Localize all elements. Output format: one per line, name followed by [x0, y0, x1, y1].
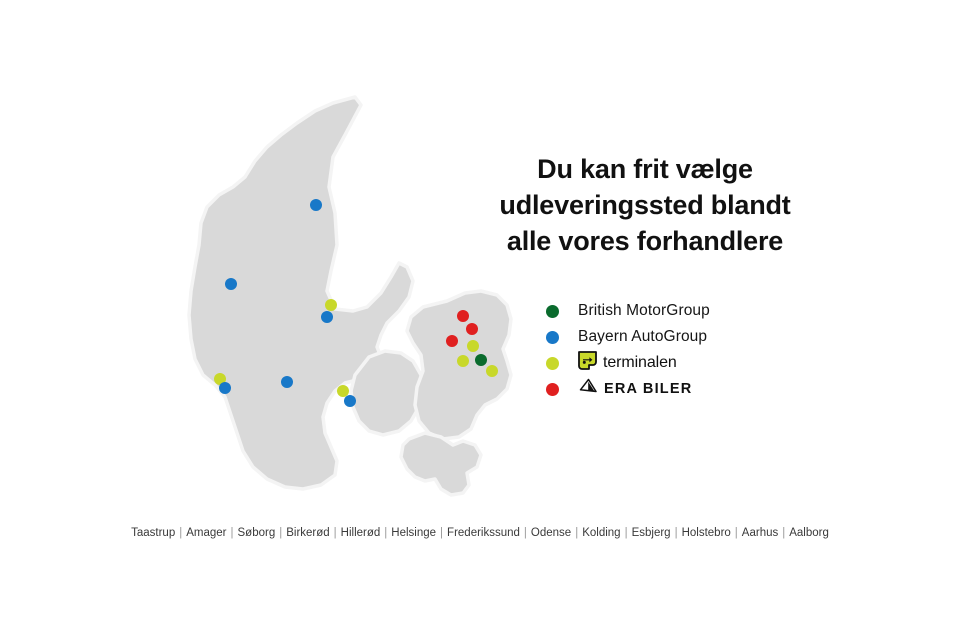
legend-item-era-biler[interactable]: ERA BILER: [546, 376, 846, 402]
map-marker-terminalen[interactable]: [457, 355, 469, 367]
map-marker-bayern[interactable]: [225, 278, 237, 290]
legend-label-british: British MotorGroup: [578, 302, 710, 320]
headline-line-1: Du kan frit vælge: [470, 152, 820, 188]
city-name: Esbjerg: [631, 527, 672, 539]
legend-item-terminalen[interactable]: terminalen: [546, 350, 846, 376]
city-name: Søborg: [237, 527, 277, 539]
era-biler-logo-icon: [578, 378, 598, 400]
city-name: Odense: [530, 527, 572, 539]
city-name: Aalborg: [788, 527, 830, 539]
city-name: Hillerød: [340, 527, 382, 539]
city-separator: |: [732, 527, 741, 539]
city-separator: |: [437, 527, 446, 539]
headline-line-2: udleveringssted blandt: [470, 188, 820, 224]
map-landmasses: [189, 97, 511, 495]
city-separator: |: [779, 527, 788, 539]
map-marker-era[interactable]: [466, 323, 478, 335]
city-name: Kolding: [581, 527, 621, 539]
city-name: Helsinge: [390, 527, 437, 539]
map-marker-terminalen[interactable]: [486, 365, 498, 377]
legend-item-bayern-autogroup[interactable]: Bayern AutoGroup: [546, 324, 846, 350]
city-separator: |: [276, 527, 285, 539]
city-separator: |: [228, 527, 237, 539]
map-marker-bayern[interactable]: [219, 382, 231, 394]
map-marker-bayern[interactable]: [310, 199, 322, 211]
legend-dot-era: [546, 383, 559, 396]
era-biler-brand: ERA BILER: [578, 378, 692, 400]
map-marker-british[interactable]: [475, 354, 487, 366]
city-name: Taastrup: [130, 527, 176, 539]
map-marker-terminalen[interactable]: [467, 340, 479, 352]
dealer-legend: British MotorGroup Bayern AutoGroup term…: [546, 298, 846, 402]
city-separator: |: [521, 527, 530, 539]
headline-line-3: alle vores forhandlere: [470, 224, 820, 260]
map-marker-era[interactable]: [446, 335, 458, 347]
legend-dot-terminalen: [546, 357, 559, 370]
landmass-funen: [351, 351, 423, 435]
city-separator: |: [176, 527, 185, 539]
map-marker-terminalen[interactable]: [337, 385, 349, 397]
era-biler-wordmark: ERA BILER: [604, 381, 692, 397]
city-name: Frederikssund: [446, 527, 521, 539]
city-name: Aarhus: [741, 527, 779, 539]
denmark-map: .land { fill: #d9d9d9; stroke: #f4f4f4; …: [185, 95, 515, 500]
legend-item-british-motorgroup[interactable]: British MotorGroup: [546, 298, 846, 324]
landmass-southern-islands: [401, 433, 481, 495]
terminalen-logo-icon: [578, 351, 597, 375]
city-separator: |: [381, 527, 390, 539]
city-separator: |: [622, 527, 631, 539]
terminalen-wordmark: terminalen: [603, 354, 677, 372]
city-separator: |: [572, 527, 581, 539]
map-marker-bayern[interactable]: [344, 395, 356, 407]
map-marker-bayern[interactable]: [281, 376, 293, 388]
city-name: Amager: [185, 527, 227, 539]
legend-dot-british: [546, 305, 559, 318]
page-headline: Du kan frit vælge udleveringssted blandt…: [470, 152, 820, 260]
legend-label-bayern: Bayern AutoGroup: [578, 328, 707, 346]
city-name: Holstebro: [681, 527, 732, 539]
city-list: Taastrup|Amager|Søborg|Birkerød|Hillerød…: [0, 527, 960, 539]
city-name: Birkerød: [285, 527, 330, 539]
legend-dot-bayern: [546, 331, 559, 344]
map-marker-terminalen[interactable]: [325, 299, 337, 311]
terminalen-brand: terminalen: [578, 351, 677, 375]
city-separator: |: [331, 527, 340, 539]
map-marker-era[interactable]: [457, 310, 469, 322]
city-separator: |: [672, 527, 681, 539]
map-marker-bayern[interactable]: [321, 311, 333, 323]
